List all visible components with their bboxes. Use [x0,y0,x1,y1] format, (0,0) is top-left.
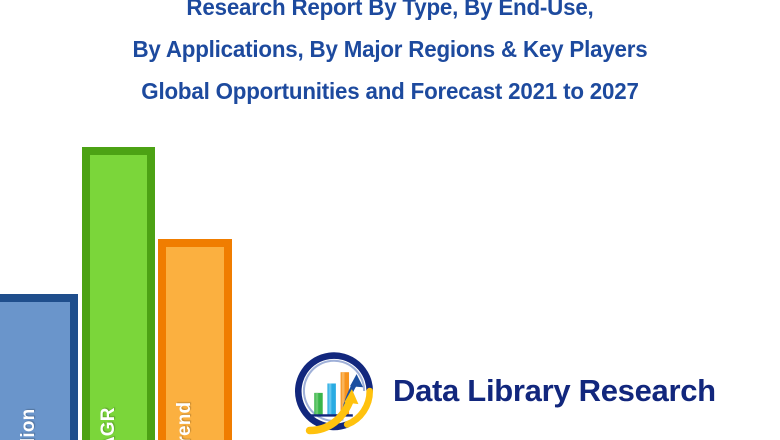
bar-cagr: % CAGR [82,147,155,440]
logo: Data Library Research [287,344,716,438]
bar-usd-million: USD XX Million [0,294,78,440]
data-library-research-logo-icon [287,344,381,438]
bar-market-trend-label: Market Trend [174,402,196,440]
logo-wordmark: Data Library Research [393,375,716,408]
bar-market-trend: Market Trend [158,239,232,440]
bar-usd-million-label: USD XX Million [18,409,40,440]
bar-chart: USD XX Million % CAGR Market Trend [0,0,250,440]
market-research-banner: Research Report By Type, By End-Use, By … [0,0,780,440]
bar-cagr-label: % CAGR [98,407,120,440]
bar-cagr-fill [90,155,147,440]
